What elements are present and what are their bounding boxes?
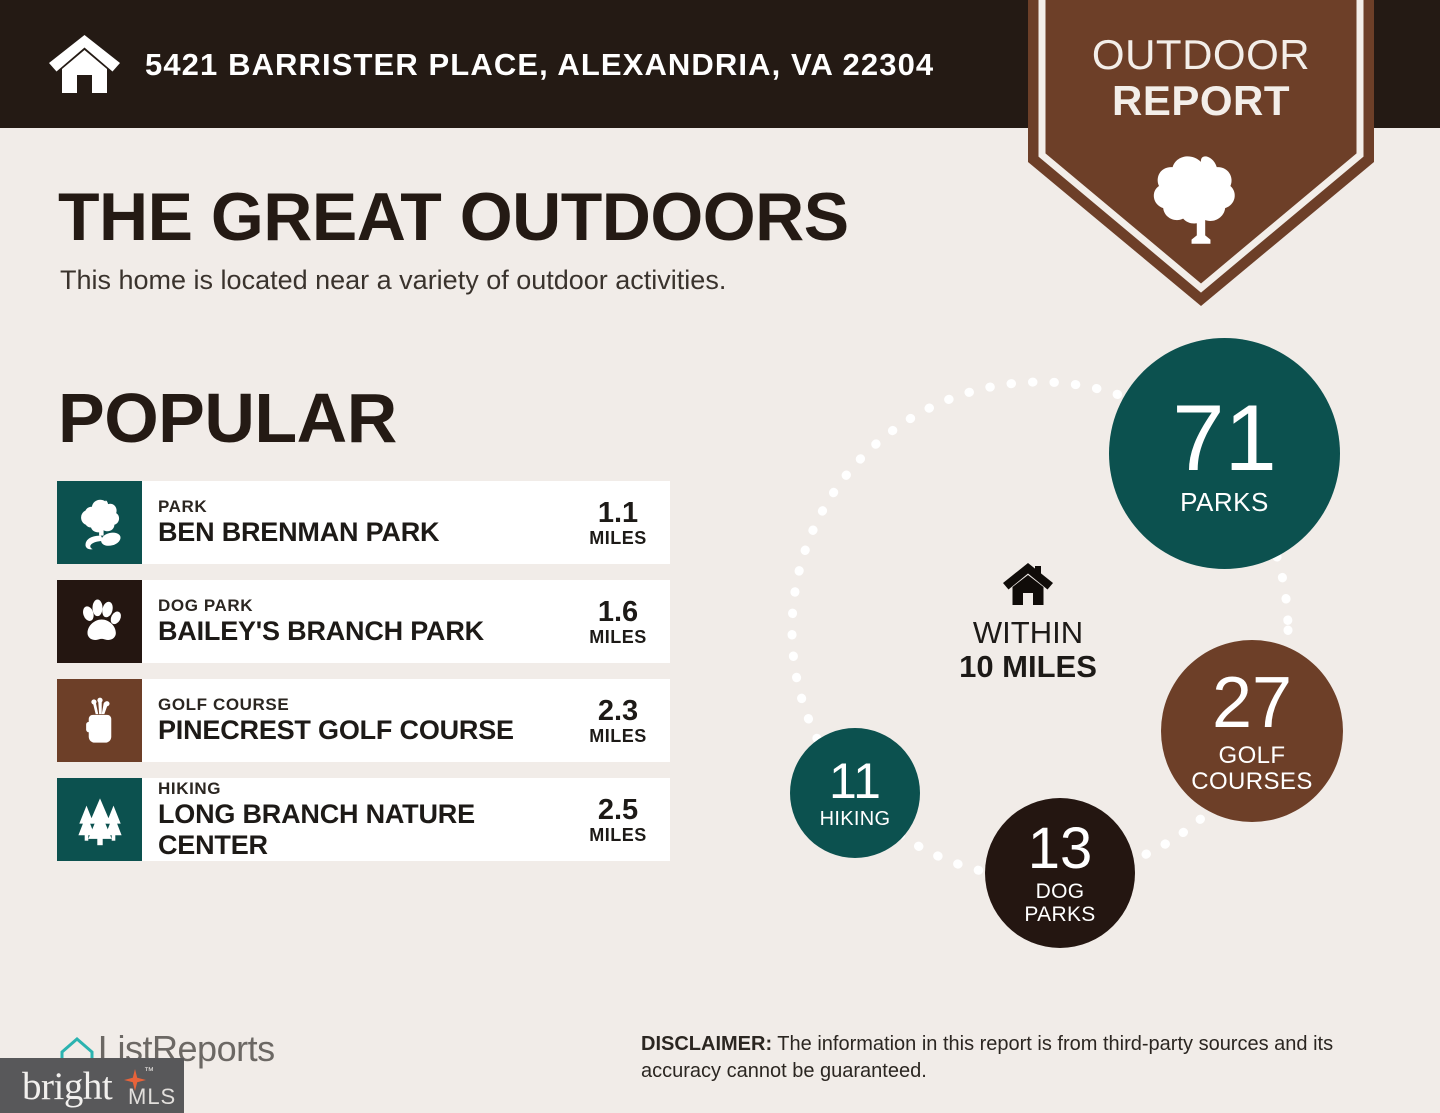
bubble-parks-label: PARKS: [1180, 489, 1269, 517]
paw-print-icon: [57, 580, 142, 663]
page-subtitle: This home is located near a variety of o…: [60, 265, 726, 296]
distance-unit: MILES: [589, 528, 647, 548]
distance-unit: MILES: [589, 627, 647, 647]
outdoor-report-badge: OUTDOOR REPORT: [1028, 0, 1374, 306]
bubble-dog-label-line2: PARKS: [1024, 904, 1095, 926]
list-item-category: DOG PARK: [158, 596, 572, 616]
badge-line2: REPORT: [1028, 78, 1374, 124]
bubble-hiking-label: HIKING: [820, 809, 891, 830]
distance-unit: MILES: [589, 726, 647, 746]
bubble-parks: 71 PARKS: [1109, 338, 1340, 569]
bubble-hiking-value: 11: [829, 756, 881, 806]
bright-trademark: ™: [144, 1066, 154, 1077]
pine-trees-icon: [57, 778, 142, 861]
list-item-name: PINECREST GOLF COURSE: [158, 715, 572, 746]
distance-value: 2.5: [598, 795, 638, 825]
distance-unit: MILES: [589, 825, 647, 845]
bubble-dog-value: 13: [1028, 820, 1093, 878]
badge-title-block: OUTDOOR REPORT: [1028, 32, 1374, 124]
badge-line1: OUTDOOR: [1028, 32, 1374, 78]
property-address: 5421 BARRISTER PLACE, ALEXANDRIA, VA 223…: [145, 47, 934, 83]
bubble-hiking: 11 HIKING: [790, 728, 920, 858]
list-item[interactable]: HIKING LONG BRANCH NATURE CENTER 2.5 MIL…: [57, 778, 670, 861]
list-item-text: DOG PARK BAILEY'S BRANCH PARK: [142, 580, 572, 663]
bubble-dog-parks: 13 DOG PARKS: [985, 798, 1135, 948]
list-item[interactable]: PARK BEN BRENMAN PARK 1.1 MILES: [57, 481, 670, 564]
park-tree-icon: [57, 481, 142, 564]
list-item-name: LONG BRANCH NATURE CENTER: [158, 799, 572, 861]
bubble-parks-value: 71: [1172, 391, 1277, 485]
disclaimer-label: DISCLAIMER:: [641, 1033, 772, 1055]
bubble-golf-value: 27: [1212, 667, 1292, 739]
page-title: THE GREAT OUTDOORS: [58, 178, 849, 256]
house-icon: [47, 33, 122, 95]
list-item-distance: 2.3 MILES: [572, 679, 670, 762]
bubble-golf-label-line1: GOLF: [1191, 743, 1313, 769]
bright-mls-label: MLS: [128, 1084, 176, 1110]
bright-wordmark: bright: [22, 1064, 112, 1109]
bubble-dog-label: DOG PARKS: [1024, 881, 1095, 926]
bubble-golf-label-line2: COURSES: [1191, 769, 1313, 795]
list-item-text: HIKING LONG BRANCH NATURE CENTER: [142, 778, 572, 861]
list-item[interactable]: DOG PARK BAILEY'S BRANCH PARK 1.6 MILES: [57, 580, 670, 663]
bubble-dog-label-line1: DOG: [1024, 881, 1095, 903]
list-item-name: BEN BRENMAN PARK: [158, 517, 572, 548]
list-item-text: GOLF COURSE PINECREST GOLF COURSE: [142, 679, 572, 762]
list-item-category: GOLF COURSE: [158, 695, 572, 715]
distance-value: 1.1: [598, 498, 638, 528]
list-item-distance: 1.1 MILES: [572, 481, 670, 564]
section-title-popular: POPULAR: [58, 378, 397, 458]
list-item-text: PARK BEN BRENMAN PARK: [142, 481, 572, 564]
popular-list: PARK BEN BRENMAN PARK 1.1 MILES DOG P: [57, 481, 670, 877]
bright-mls-watermark: bright ™ MLS: [0, 1058, 184, 1113]
page-root: 5421 BARRISTER PLACE, ALEXANDRIA, VA 223…: [0, 0, 1440, 1113]
list-item[interactable]: GOLF COURSE PINECREST GOLF COURSE 2.3 MI…: [57, 679, 670, 762]
distance-value: 1.6: [598, 597, 638, 627]
bubble-golf-courses: 27 GOLF COURSES: [1161, 640, 1343, 822]
list-item-name: BAILEY'S BRANCH PARK: [158, 616, 572, 647]
list-item-distance: 2.5 MILES: [572, 778, 670, 861]
house-icon: [1002, 562, 1054, 606]
list-item-category: PARK: [158, 497, 572, 517]
center-label-line2: 10 MILES: [923, 650, 1133, 684]
chart-center-label: WITHIN 10 MILES: [923, 562, 1133, 684]
list-item-category: HIKING: [158, 779, 572, 799]
within-10-miles-bubble-chart: 71 PARKS 27 GOLF COURSES 13 DOG PARKS 11…: [740, 330, 1400, 950]
disclaimer: DISCLAIMER: The information in this repo…: [641, 1031, 1391, 1085]
center-label-line1: WITHIN: [923, 616, 1133, 650]
bubble-golf-label: GOLF COURSES: [1191, 743, 1313, 794]
distance-value: 2.3: [598, 696, 638, 726]
golf-bag-icon: [57, 679, 142, 762]
list-item-distance: 1.6 MILES: [572, 580, 670, 663]
